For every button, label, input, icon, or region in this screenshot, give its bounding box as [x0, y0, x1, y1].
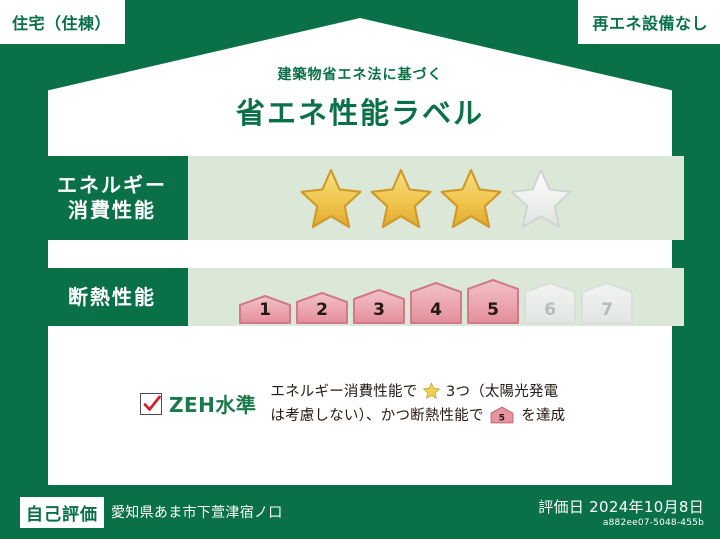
- checkbox-checked-icon: [140, 393, 162, 415]
- zeh-description-line1: エネルギー消費性能で 3つ（太陽光発電: [270, 381, 565, 405]
- insulation-grade-icon: 5: [490, 406, 514, 424]
- energy-performance-value: [188, 156, 684, 240]
- insulation-performance-row: 断熱性能 1234567: [36, 268, 684, 326]
- evaluation-id: a882ee07-5048-455b: [538, 518, 704, 528]
- zeh-description-line1-text-a: エネルギー消費性能で: [270, 384, 417, 400]
- energy-performance-label: エネルギー 消費性能: [36, 156, 188, 240]
- title-block: 建築物省エネ法に基づく 省エネ性能ラベル: [0, 64, 720, 132]
- zeh-description-line2-text-b: を達成: [521, 408, 565, 424]
- title-subtitle: 建築物省エネ法に基づく: [0, 64, 720, 84]
- renewable-energy-tag: 再エネ設備なし: [578, 0, 720, 44]
- evaluation-type-badge: 自己評価: [20, 497, 104, 528]
- evaluation-date: 評価日 2024年10月8日: [538, 496, 704, 517]
- star-filled-icon: [300, 167, 362, 229]
- building-type-tag: 住宅（住棟）: [0, 0, 125, 44]
- insulation-grade-2: 2: [295, 291, 349, 324]
- insulation-grade-number: 6: [523, 300, 577, 320]
- insulation-grade-number: 1: [238, 300, 292, 320]
- insulation-grade-3: 3: [352, 288, 406, 324]
- energy-performance-row: エネルギー 消費性能: [36, 156, 684, 240]
- zeh-description-line2: は考慮しない）、かつ断熱性能で 5 を達成: [270, 405, 565, 429]
- zeh-description-line1-text-b: 3つ（太陽光発電: [446, 384, 558, 400]
- insulation-grade-4: 4: [409, 281, 463, 324]
- zeh-section: ZEH水準 エネルギー消費性能で 3つ（太陽光発電 は考慮しない）、かつ断熱性能…: [140, 381, 565, 429]
- zeh-description: エネルギー消費性能で 3つ（太陽光発電 は考慮しない）、かつ断熱性能で 5 を達…: [270, 381, 565, 429]
- star-filled-icon: [440, 167, 502, 229]
- star-filled-icon: [370, 167, 432, 229]
- page-title: 省エネ性能ラベル: [0, 90, 720, 132]
- zeh-label: ZEH水準: [169, 389, 256, 418]
- footer-right: 評価日 2024年10月8日 a882ee07-5048-455b: [538, 496, 704, 528]
- insulation-grade-number: 4: [409, 300, 463, 320]
- energy-performance-label-line2: 消費性能: [68, 198, 156, 223]
- insulation-grade-1: 1: [238, 294, 292, 324]
- insulation-performance-value: 1234567: [188, 268, 684, 326]
- star-rating: [300, 167, 572, 229]
- insulation-grade-5: 5: [466, 278, 520, 324]
- svg-text:5: 5: [499, 413, 505, 423]
- insulation-grade-number: 7: [580, 300, 634, 320]
- energy-performance-label-line1: エネルギー: [57, 173, 167, 198]
- energy-performance-label: 住宅（住棟） 再エネ設備なし 建築物省エネ法に基づく 省エネ性能ラベル エネルギ…: [0, 0, 720, 539]
- insulation-grade-number: 3: [352, 300, 406, 320]
- footer: 自己評価 愛知県あま市下萱津宿ノ口 評価日 2024年10月8日 a882ee0…: [0, 485, 720, 539]
- zeh-badge: ZEH水準: [140, 381, 256, 418]
- property-address: 愛知県あま市下萱津宿ノ口: [111, 502, 283, 522]
- insulation-grade-7: 7: [580, 281, 634, 324]
- insulation-grade-number: 5: [466, 300, 520, 320]
- insulation-grade-number: 2: [295, 300, 349, 320]
- insulation-performance-label: 断熱性能: [36, 268, 188, 326]
- insulation-grade-scale: 1234567: [238, 278, 634, 324]
- footer-left: 自己評価 愛知県あま市下萱津宿ノ口: [20, 497, 283, 528]
- zeh-description-line2-text-a: は考慮しない）、かつ断熱性能で: [270, 408, 483, 424]
- insulation-grade-6: 6: [523, 281, 577, 324]
- star-icon: [423, 382, 440, 399]
- star-empty-icon: [510, 167, 572, 229]
